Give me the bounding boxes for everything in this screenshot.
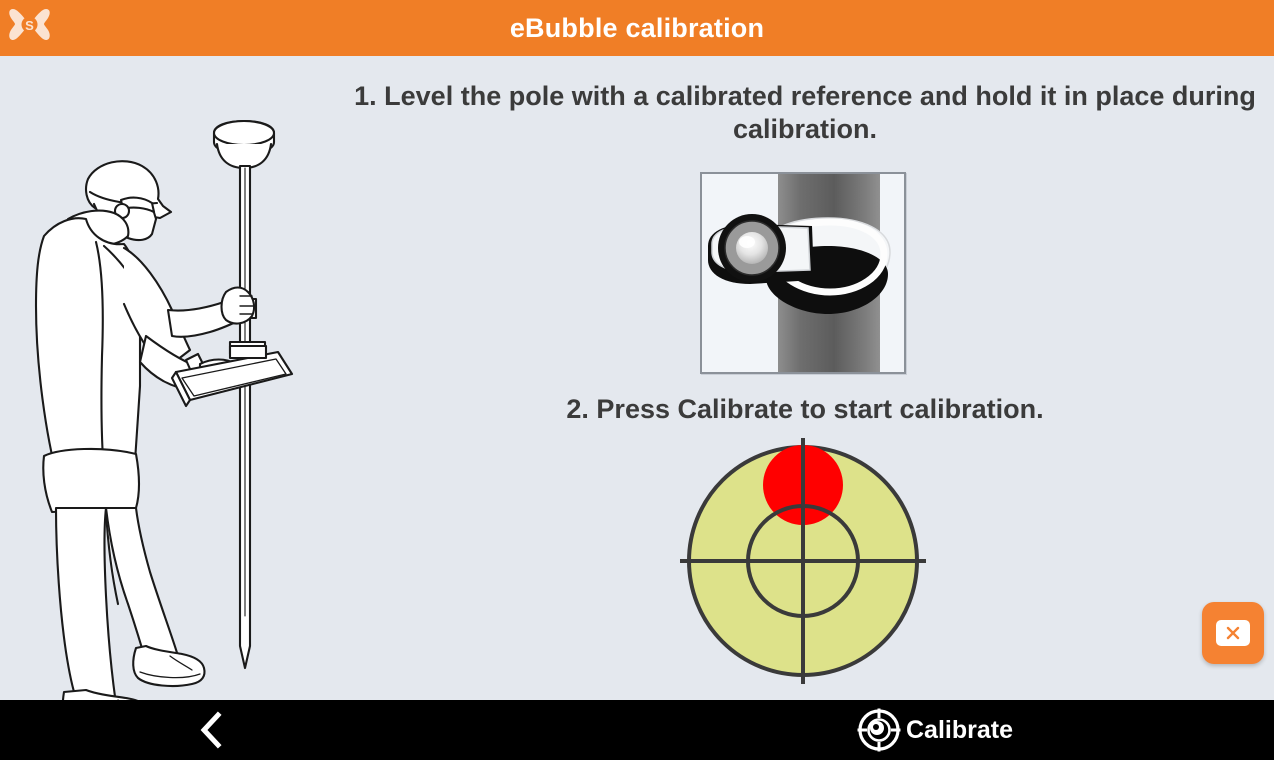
surveyor-with-gnss-pole-illustration xyxy=(0,56,320,700)
title-bar: S eBubble calibration xyxy=(0,0,1274,56)
svg-text:S: S xyxy=(25,18,34,33)
bottom-navigation-bar: Calibrate xyxy=(0,700,1274,760)
calibrate-button[interactable]: Calibrate xyxy=(856,700,1013,760)
bubble-target-icon xyxy=(856,707,902,753)
calibrate-button-label: Calibrate xyxy=(906,716,1013,745)
pole-bubble-clamp-photo xyxy=(700,172,906,374)
ebubble-indicator xyxy=(678,436,928,686)
close-button[interactable] xyxy=(1202,602,1264,664)
page-title: eBubble calibration xyxy=(510,13,764,44)
step-1-instruction: 1. Level the pole with a calibrated refe… xyxy=(340,80,1270,147)
step-2-instruction: 2. Press Calibrate to start calibration. xyxy=(330,393,1274,426)
xsurvey-logo-icon: S xyxy=(6,4,54,52)
back-button[interactable] xyxy=(176,700,246,760)
close-x-icon xyxy=(1225,625,1241,641)
close-icon-plate xyxy=(1216,620,1250,646)
chevron-left-icon xyxy=(197,710,225,750)
app-window: S eBubble calibration xyxy=(0,0,1274,760)
main-content: 1. Level the pole with a calibrated refe… xyxy=(0,56,1274,700)
